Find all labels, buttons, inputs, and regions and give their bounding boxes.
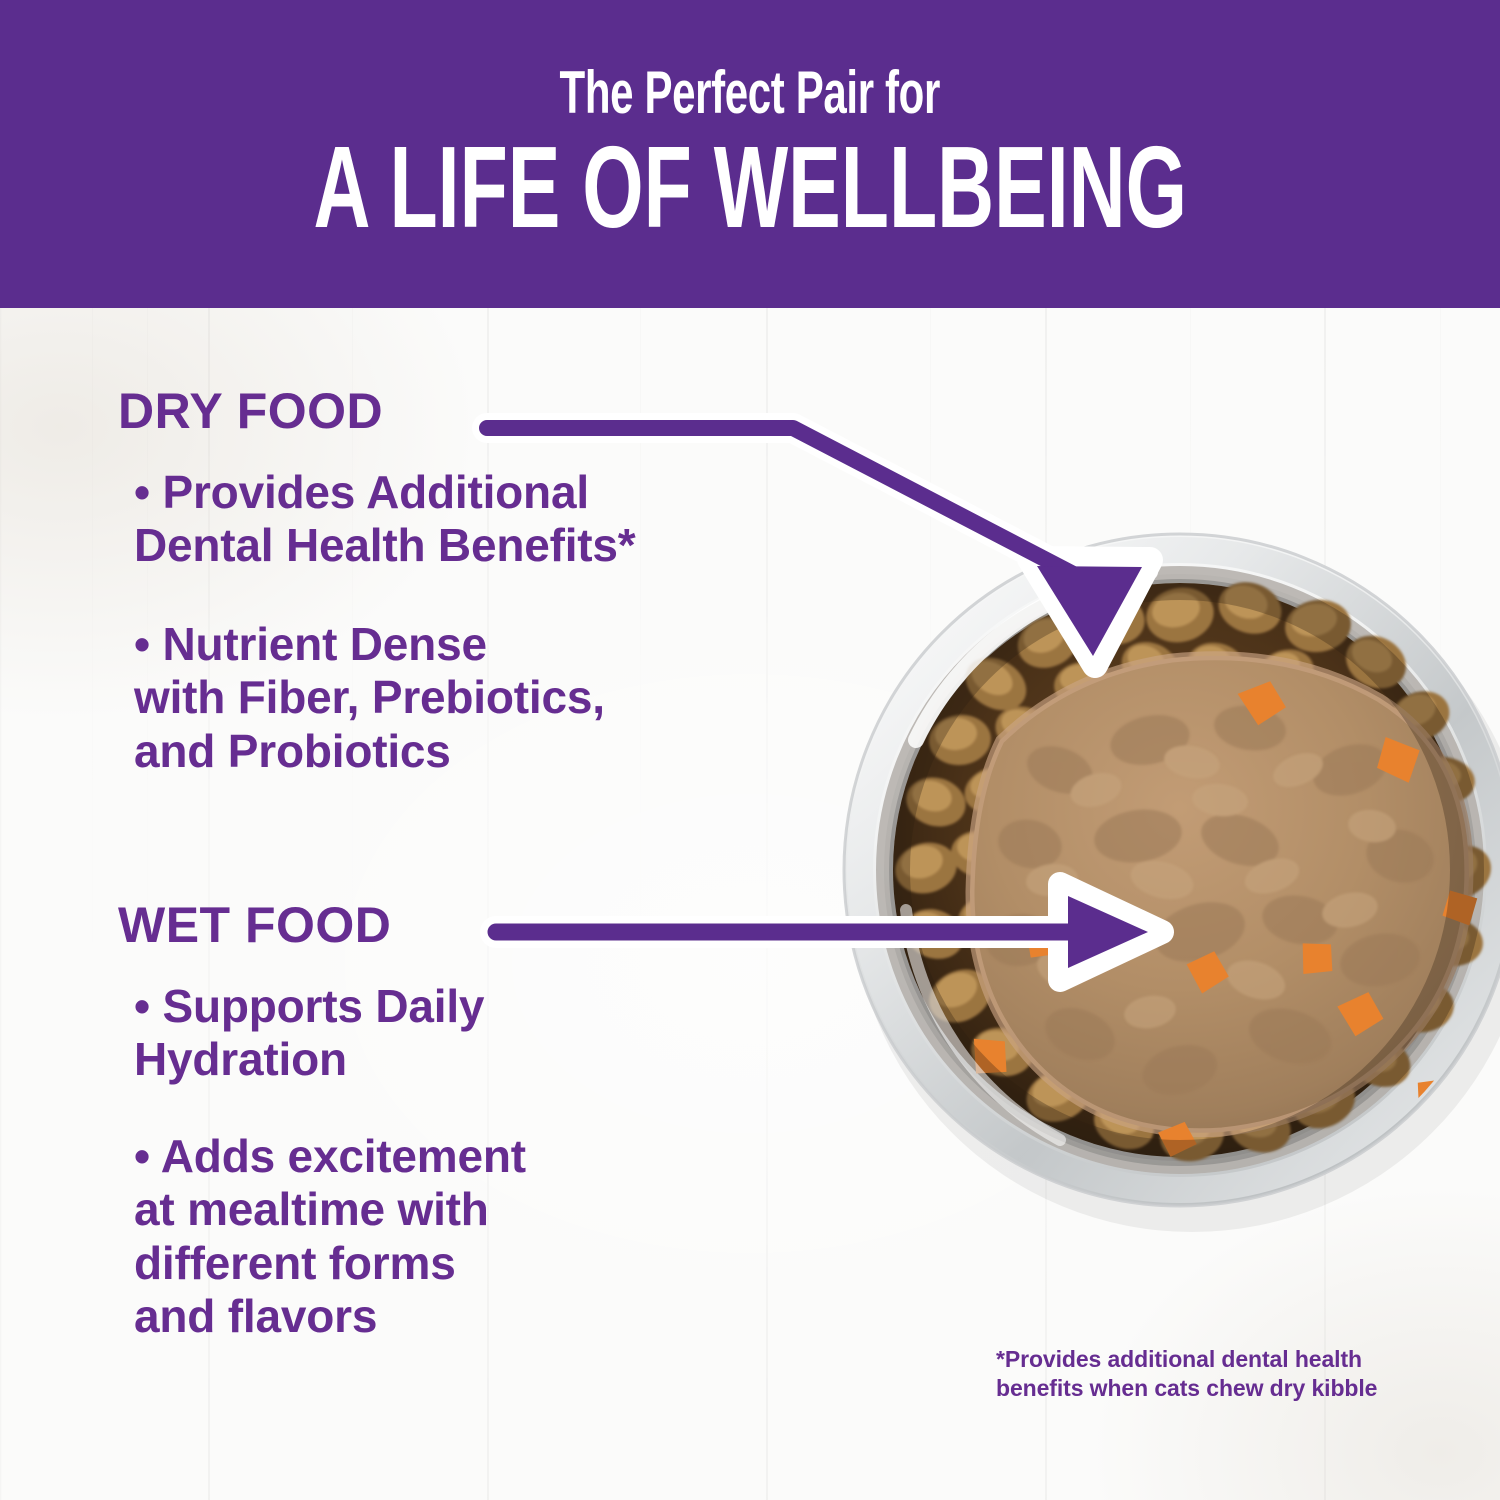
bullet-wet-1: • Supports Daily Hydration <box>134 980 814 1087</box>
bullet-dry-1: • Provides Additional Dental Health Bene… <box>134 466 814 573</box>
header-title: A LIFE OF WELLBEING <box>313 129 1186 245</box>
bullet-wet-2: • Adds excitement at mealtime with diffe… <box>134 1130 814 1343</box>
wood-grain <box>92 308 93 1500</box>
bullet-line: • Nutrient Dense <box>134 618 814 671</box>
bullet-line: • Supports Daily <box>134 980 814 1033</box>
bullet-line: different forms <box>134 1237 814 1290</box>
pet-food-bowl-photo <box>820 440 1500 1310</box>
footnote: *Provides additional dental health benef… <box>996 1345 1426 1404</box>
bullet-line: Hydration <box>134 1033 814 1086</box>
bullet-line: at mealtime with <box>134 1183 814 1236</box>
section-title-dry-food: DRY FOOD <box>118 386 818 436</box>
header-subtitle: The Perfect Pair for <box>560 63 940 123</box>
footnote-line-1: *Provides additional dental health <box>996 1345 1426 1374</box>
bullet-dry-2: • Nutrient Dense with Fiber, Prebiotics,… <box>134 618 814 778</box>
header-band: The Perfect Pair for A LIFE OF WELLBEING <box>0 0 1500 308</box>
bullet-line: and flavors <box>134 1290 814 1343</box>
bullet-line: • Provides Additional <box>134 466 814 519</box>
section-title-wet-food: WET FOOD <box>118 900 391 950</box>
benefits-copy: DRY FOOD • Provides Additional Dental He… <box>118 386 818 436</box>
bullet-line: • Adds excitement <box>134 1130 814 1183</box>
bullet-line: and Probiotics <box>134 725 814 778</box>
bowl-illustration <box>820 440 1500 1310</box>
footnote-line-2: benefits when cats chew dry kibble <box>996 1374 1426 1403</box>
poster-canvas: The Perfect Pair for A LIFE OF WELLBEING <box>0 0 1500 1500</box>
bullet-line: with Fiber, Prebiotics, <box>134 671 814 724</box>
bullet-line: Dental Health Benefits* <box>134 519 814 572</box>
